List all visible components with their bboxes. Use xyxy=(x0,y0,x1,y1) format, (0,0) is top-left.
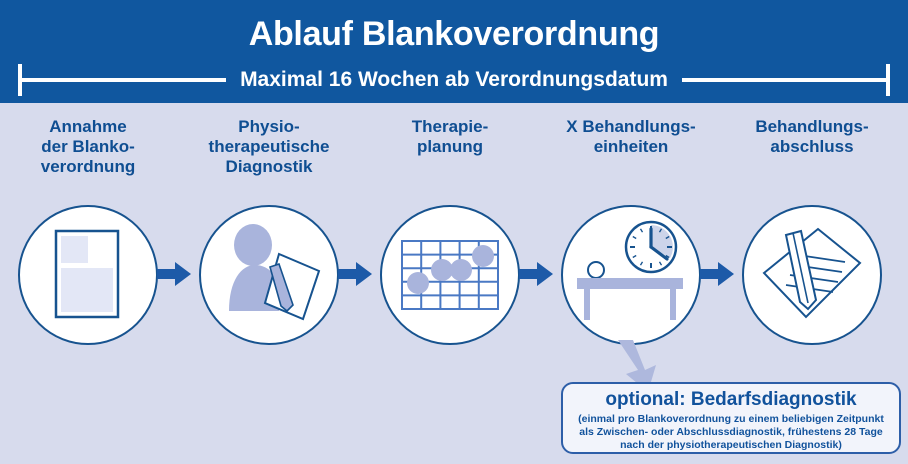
page-title: Ablauf Blankoverordnung xyxy=(0,14,908,54)
arrow-right-icon xyxy=(338,261,372,287)
document-form-icon xyxy=(20,207,155,342)
step-label: Physio- therapeutische Diagnostik xyxy=(181,117,357,177)
step-x-behandlungseinheiten: X Behandlungs- einheiten xyxy=(543,103,719,373)
treatment-table-icon xyxy=(577,262,683,320)
step-icon-circle xyxy=(18,205,158,345)
step-icon-circle xyxy=(199,205,339,345)
flow-arrow-2 xyxy=(338,261,372,287)
process-steps: Annahme der Blanko- verordnung Physio- t… xyxy=(0,103,908,373)
bracket-label-wrap: Maximal 16 Wochen ab Verordnungsdatum xyxy=(18,64,890,96)
flow-arrow-4 xyxy=(700,261,734,287)
step-label: Annahme der Blanko- verordnung xyxy=(0,117,176,177)
arrow-right-icon xyxy=(519,261,553,287)
step-icon-circle xyxy=(742,205,882,345)
step-therapieplanung: Therapie- planung xyxy=(362,103,538,373)
step-behandlungsabschluss: Behandlungs- abschluss xyxy=(724,103,900,373)
flow-arrow-3 xyxy=(519,261,553,287)
callout-note: (einmal pro Blankoverordnung zu einem be… xyxy=(563,412,899,452)
step-label: Therapie- planung xyxy=(362,117,538,157)
step-annahme-der-blankoverordnung: Annahme der Blanko- verordnung xyxy=(0,103,176,373)
clock-icon xyxy=(626,222,676,272)
planning-grid-icon xyxy=(382,207,517,342)
therapist-writing-icon xyxy=(201,207,336,342)
arrow-right-icon xyxy=(700,261,734,287)
document-pen-icon xyxy=(744,207,879,342)
treatment-table-clock-icon xyxy=(563,207,698,342)
infographic-root: Ablauf Blankoverordnung Maximal 16 Woche… xyxy=(0,0,908,464)
step-icon-circle xyxy=(380,205,520,345)
optional-diagnostics-callout: optional: Bedarfsdiagnostik (einmal pro … xyxy=(561,382,901,454)
step-label: Behandlungs- abschluss xyxy=(724,117,900,157)
arrow-right-icon xyxy=(157,261,191,287)
callout-title: optional: Bedarfsdiagnostik xyxy=(563,388,899,412)
header-banner: Ablauf Blankoverordnung Maximal 16 Woche… xyxy=(0,0,908,103)
duration-label: Maximal 16 Wochen ab Verordnungsdatum xyxy=(226,65,682,95)
flow-arrow-1 xyxy=(157,261,191,287)
step-icon-circle xyxy=(561,205,701,345)
duration-bracket: Maximal 16 Wochen ab Verordnungsdatum xyxy=(18,64,890,96)
step-label: X Behandlungs- einheiten xyxy=(543,117,719,157)
step-physiotherapeutische-diagnostik: Physio- therapeutische Diagnostik xyxy=(181,103,357,373)
